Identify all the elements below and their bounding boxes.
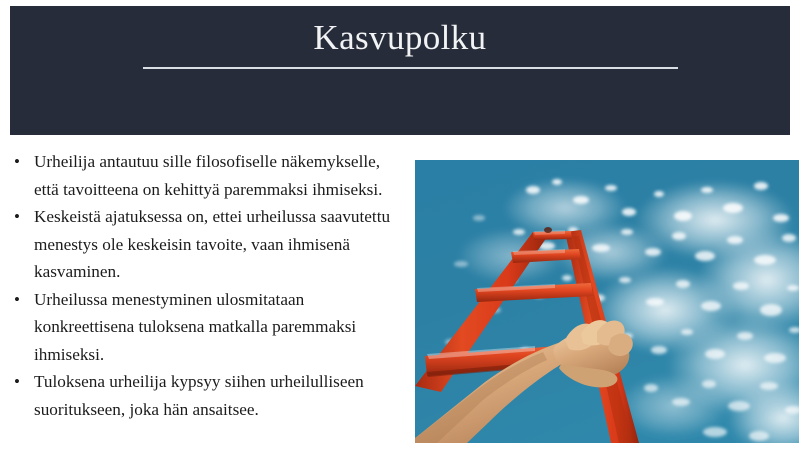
list-item: • Urheilussa menestyminen ulosmitataan k… — [10, 286, 405, 369]
slide-photo — [415, 160, 799, 443]
bullet-marker-icon: • — [10, 203, 34, 231]
bullet-marker-icon: • — [10, 368, 34, 396]
list-item-text: Keskeistä ajatuksessa on, ettei urheilus… — [34, 203, 405, 286]
list-item: • Keskeistä ajatuksessa on, ettei urheil… — [10, 203, 405, 286]
bullet-marker-icon: • — [10, 148, 34, 176]
list-item-text: Urheilija antautuu sille filosofiselle n… — [34, 148, 405, 203]
list-item-text: Urheilussa menestyminen ulosmitataan kon… — [34, 286, 405, 369]
title-divider — [143, 67, 678, 69]
ladder-sky-illustration — [415, 160, 799, 443]
bullet-list: • Urheilija antautuu sille filosofiselle… — [10, 148, 405, 423]
list-item-text: Tuloksena urheilija kypsyy siihen urheil… — [34, 368, 405, 423]
bullet-marker-icon: • — [10, 286, 34, 314]
title-banner: Kasvupolku — [10, 6, 790, 135]
list-item: • Urheilija antautuu sille filosofiselle… — [10, 148, 405, 203]
page-title: Kasvupolku — [10, 17, 790, 59]
slide-canvas: Kasvupolku • Urheilija antautuu sille fi… — [0, 0, 799, 461]
list-item: • Tuloksena urheilija kypsyy siihen urhe… — [10, 368, 405, 423]
